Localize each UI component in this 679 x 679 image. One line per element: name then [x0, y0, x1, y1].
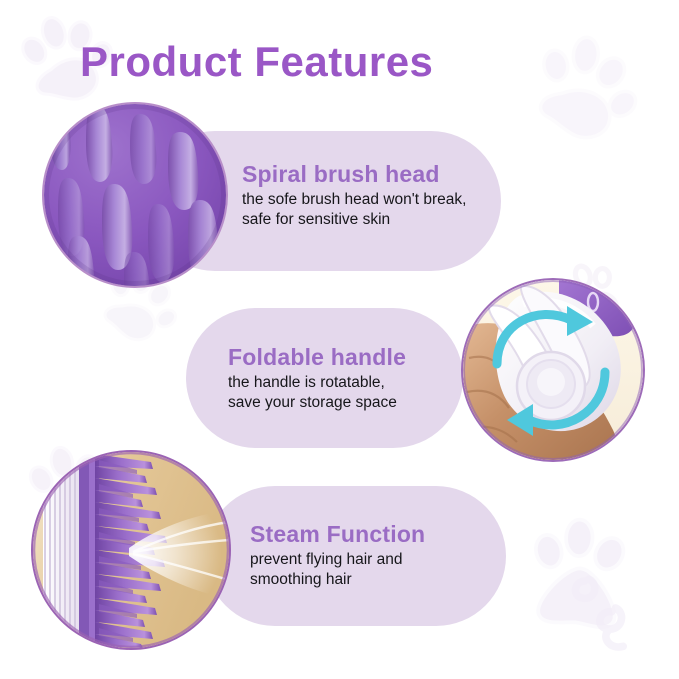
feature-image-steam-function: [33, 452, 229, 648]
feature-text-spiral-brush-head: Spiral brush head the sofe brush head wo…: [242, 162, 466, 229]
feature-body-line-2: save your storage space: [228, 393, 406, 413]
paw-print-top-right: [517, 19, 657, 159]
feature-heading: Spiral brush head: [242, 162, 466, 187]
paw-print-bottom-right: [514, 506, 652, 644]
feature-body-line-1: prevent flying hair and: [250, 550, 425, 570]
feature-image-foldable-handle: [463, 280, 643, 460]
feature-image-spiral-brush-head: [44, 104, 226, 286]
feature-body-line-1: the handle is rotatable,: [228, 373, 406, 393]
product-features-infographic: Product Features: [0, 0, 679, 679]
feature-heading: Steam Function: [250, 522, 425, 547]
page-title: Product Features: [80, 38, 433, 86]
steam-swirl-decoration: [556, 552, 652, 662]
feature-body-line-2: safe for sensitive skin: [242, 210, 466, 230]
feature-body-line-2: smoothing hair: [250, 570, 425, 590]
feature-heading: Foldable handle: [228, 345, 406, 370]
feature-body-line-1: the sofe brush head won't break,: [242, 190, 466, 210]
feature-text-foldable-handle: Foldable handle the handle is rotatable,…: [228, 345, 406, 412]
feature-text-steam-function: Steam Function prevent flying hair and s…: [250, 522, 425, 589]
